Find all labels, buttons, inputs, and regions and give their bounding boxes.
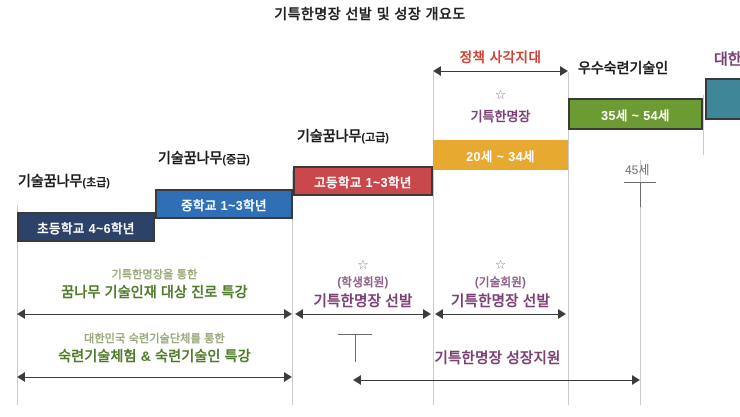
program-technician-selection-arrow (435, 309, 566, 320)
arrow-shaft (358, 380, 635, 381)
program-student-selection-line2: 기특한명장 선발 (293, 290, 433, 311)
arrow-head-right (423, 309, 431, 319)
stage-caption-high-main: 기술꿈나무 (297, 128, 361, 144)
policy-blind-spot-arrow (433, 66, 568, 77)
stage-caption-middle: 기술꿈나무(중급) (158, 148, 250, 168)
policy-blind-spot-label: 정책 사각지대 (433, 46, 568, 66)
program-student-selection: (학생회원) 기특한명장 선발 (293, 274, 433, 311)
program-growth-support: 기특한명장 성장지원 (355, 347, 640, 368)
stage-caption-skilled: 우수숙련기술인 (578, 58, 668, 78)
column-divider-6 (703, 95, 704, 155)
stage-caption-master: 기특한명장 (433, 106, 568, 125)
diagram-canvas: 기특한명장 선발 및 성장 개요도 정책 사각지대 기술꿈나무(초급) 초등학교… (0, 0, 740, 417)
stage-caption-middle-main: 기술꿈나무 (158, 150, 222, 166)
star-icon-master: ☆ (433, 88, 568, 101)
stage-bar-middle: 중학교 1~3학년 (155, 189, 293, 219)
program-technician-selection-line2: 기특한명장 선발 (433, 290, 568, 311)
program-career-lecture-line2: 꿈나무 기술인재 대상 진로 특강 (17, 282, 292, 302)
program-student-selection-line1: (학생회원) (293, 274, 433, 290)
program-skill-experience: 대한민국 숙련기술단체를 통한 숙련기술체험 & 숙련기술인 특강 (17, 330, 292, 366)
stage-bar-master: 20세 ~ 34세 (433, 140, 568, 170)
stage-caption-middle-sub: (중급) (222, 154, 250, 166)
program-career-lecture: 기특한명장을 통한 꿈나무 기술인재 대상 진로 특강 (17, 266, 292, 302)
arrow-shaft (438, 71, 563, 72)
program-growth-support-arrow (353, 375, 640, 386)
program-career-lecture-line1: 기특한명장을 통한 (17, 266, 292, 282)
arrow-head-right (560, 66, 568, 76)
star-icon-student-selection: ☆ (293, 258, 433, 271)
program-technician-selection-line1: (기술회원) (433, 274, 568, 290)
arrow-shaft (22, 377, 287, 378)
age-marker-tick (624, 182, 656, 207)
arrow-head-right (632, 375, 640, 385)
stage-caption-elementary-main: 기술꿈나무 (18, 173, 82, 189)
star-icon-technician-selection: ☆ (433, 258, 568, 271)
stage-bar-high: 고등학교 1~3학년 (293, 166, 433, 196)
stage-caption-skilled-main: 우수숙련기술인 (578, 60, 668, 76)
stage-caption-national: 대한 (714, 48, 740, 69)
program-skill-experience-arrow (17, 372, 292, 383)
stage-caption-elementary-sub: (초급) (82, 177, 110, 189)
stage-caption-high-sub: (고급) (361, 132, 389, 144)
arrow-shaft (440, 314, 561, 315)
arrow-head-right (284, 372, 292, 382)
arrow-shaft (22, 314, 287, 315)
stage-caption-high: 기술꿈나무(고급) (297, 126, 389, 146)
age-marker-label: 45세 (625, 161, 649, 178)
tick-stem (640, 182, 641, 207)
page-title: 기특한명장 선발 및 성장 개요도 (0, 4, 740, 24)
stage-bar-skilled: 35세 ~ 54세 (568, 98, 703, 130)
arrow-shaft (300, 314, 426, 315)
program-career-lecture-arrow (17, 309, 292, 320)
stage-bar-national (705, 78, 740, 120)
program-student-selection-arrow (295, 309, 431, 320)
program-skill-experience-line1: 대한민국 숙련기술단체를 통한 (17, 330, 292, 346)
program-skill-experience-line2: 숙련기술체험 & 숙련기술인 특강 (17, 346, 292, 366)
arrow-head-right (284, 309, 292, 319)
arrow-head-right (558, 309, 566, 319)
program-growth-support-line2: 기특한명장 성장지원 (355, 347, 640, 368)
stage-bar-elementary: 초등학교 4~6학년 (17, 212, 155, 242)
stage-caption-elementary: 기술꿈나무(초급) (18, 171, 110, 191)
program-technician-selection: (기술회원) 기특한명장 선발 (433, 274, 568, 311)
